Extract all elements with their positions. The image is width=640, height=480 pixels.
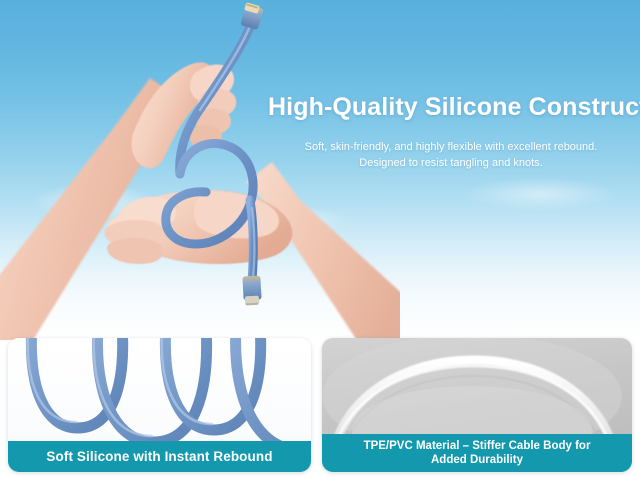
- feature-panel-soft-silicone[interactable]: Soft Silicone with Instant Rebound: [8, 338, 311, 472]
- page-title: High-Quality Silicone Construction: [268, 92, 636, 122]
- panel-caption-tpe-pvc: TPE/PVC Material – Stiffer Cable Body fo…: [322, 434, 632, 472]
- subtitle-line-2: Designed to resist tangling and knots.: [262, 156, 640, 172]
- panel-caption-soft-silicone: Soft Silicone with Instant Rebound: [8, 441, 311, 472]
- panel-caption-tpe-pvc-line-2: Added Durability: [364, 453, 591, 467]
- cable-connector-top-icon: [240, 2, 263, 30]
- cable-connector-bottom-icon: [242, 276, 261, 306]
- right-hand: [104, 190, 292, 264]
- marketing-banner: High-Quality Silicone Construction Soft,…: [0, 0, 640, 480]
- feature-panel-tpe-pvc[interactable]: TPE/PVC Material – Stiffer Cable Body fo…: [322, 338, 632, 472]
- subtitle-line-1: Soft, skin-friendly, and highly flexible…: [262, 140, 640, 156]
- page-subtitle: Soft, skin-friendly, and highly flexible…: [262, 140, 640, 171]
- panel-caption-tpe-pvc-line-1: TPE/PVC Material – Stiffer Cable Body fo…: [364, 439, 591, 453]
